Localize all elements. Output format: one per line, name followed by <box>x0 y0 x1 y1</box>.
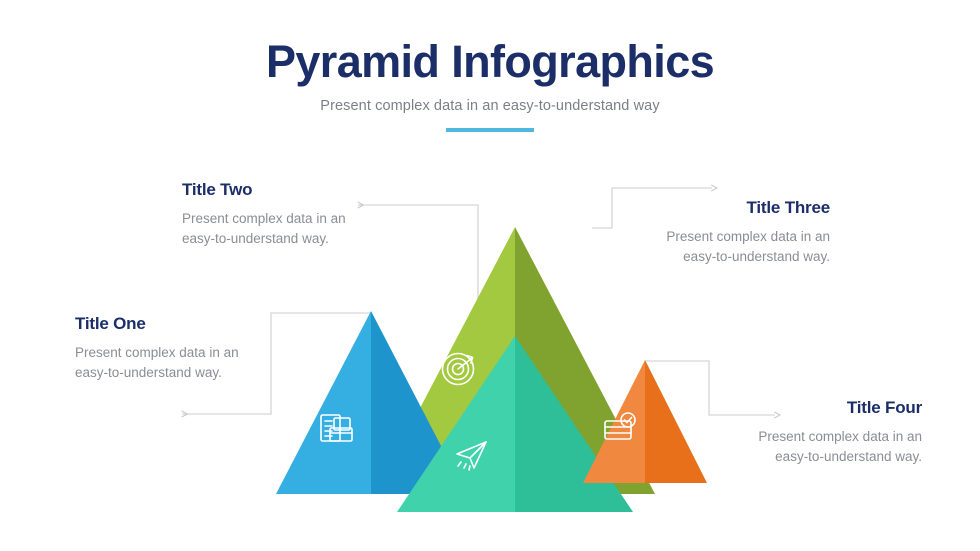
block-one-body: Present complex data in an easy-to-under… <box>75 343 250 383</box>
block-one-title: Title One <box>75 314 250 334</box>
target-arrow-icon <box>443 354 474 385</box>
pyramid-four-right-face <box>645 360 707 483</box>
pyramid-graphic <box>0 0 980 551</box>
pyramid-one-left-face <box>276 311 371 494</box>
text-block-title-four[interactable]: Title Four Present complex data in an ea… <box>744 398 922 467</box>
text-block-title-two[interactable]: Title Two Present complex data in an eas… <box>182 180 357 249</box>
block-two-title: Title Two <box>182 180 357 200</box>
block-two-body: Present complex data in an easy-to-under… <box>182 209 357 249</box>
text-block-title-one[interactable]: Title One Present complex data in an eas… <box>75 314 250 383</box>
block-three-title: Title Three <box>652 198 830 218</box>
block-four-body: Present complex data in an easy-to-under… <box>744 427 922 467</box>
block-four-title: Title Four <box>744 398 922 418</box>
slide-canvas: Pyramid Infographics Present complex dat… <box>0 0 980 551</box>
text-block-title-three[interactable]: Title Three Present complex data in an e… <box>652 198 830 267</box>
block-three-body: Present complex data in an easy-to-under… <box>652 227 830 267</box>
